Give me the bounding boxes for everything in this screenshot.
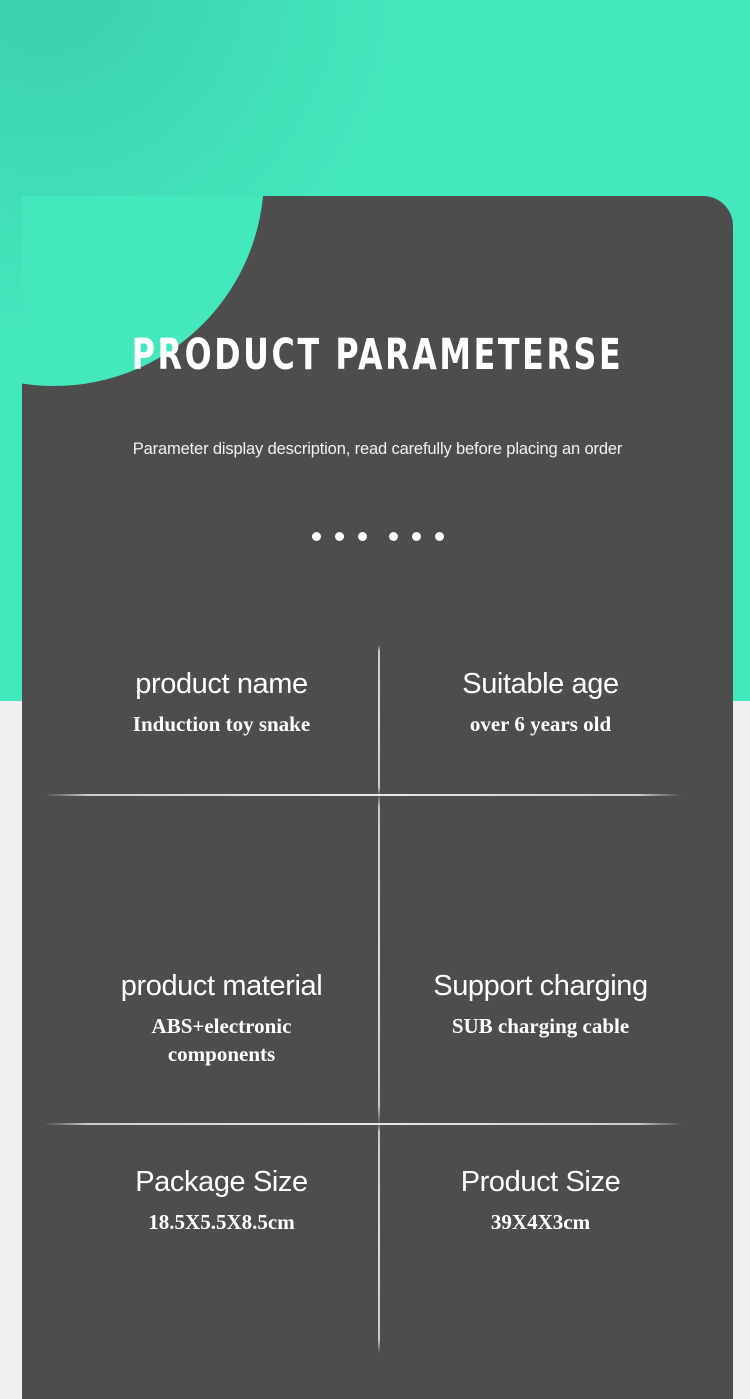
parameter-value: 18.5X5.5X8.5cm [148, 1208, 294, 1236]
parameter-cell: product material ABS+electronic componen… [62, 969, 381, 1121]
parameter-label: Suitable age [462, 667, 618, 701]
parameter-cell: Package Size 18.5X5.5X8.5cm [62, 1165, 381, 1353]
parameters-row: product name Induction toy snake Suitabl… [62, 645, 700, 793]
parameter-label: product material [121, 969, 323, 1003]
dot-icon [312, 532, 321, 541]
parameters-card: PRODUCT PARAMETERSE Parameter display de… [22, 196, 733, 1399]
parameter-value: over 6 years old [470, 710, 611, 738]
parameters-grid: product name Induction toy snake Suitabl… [62, 645, 700, 1353]
dots-separator [22, 532, 733, 541]
parameter-label: Product Size [461, 1165, 621, 1199]
parameter-cell: Support charging SUB charging cable [381, 969, 700, 1121]
parameter-cell: product name Induction toy snake [62, 667, 381, 793]
parameter-value: SUB charging cable [452, 1012, 629, 1040]
parameter-label: product name [135, 667, 308, 701]
product-parameters-page: PRODUCT PARAMETERSE Parameter display de… [0, 0, 750, 1399]
parameter-value: 39X4X3cm [491, 1208, 590, 1236]
parameters-row: product material ABS+electronic componen… [62, 793, 700, 1121]
dot-icon [435, 532, 444, 541]
parameter-cell: Product Size 39X4X3cm [381, 1165, 700, 1353]
parameter-value: ABS+electronic components [112, 1012, 332, 1068]
parameter-cell: Suitable age over 6 years old [381, 667, 700, 793]
dot-icon [358, 532, 367, 541]
parameters-row: Package Size 18.5X5.5X8.5cm Product Size… [62, 1121, 700, 1353]
dot-icon [389, 532, 398, 541]
dot-group-left [312, 532, 367, 541]
dot-group-right [389, 532, 444, 541]
parameters-card-inner: PRODUCT PARAMETERSE Parameter display de… [22, 196, 733, 1399]
parameter-label: Support charging [433, 969, 647, 1003]
dot-icon [335, 532, 344, 541]
dot-icon [412, 532, 421, 541]
parameter-label: Package Size [135, 1165, 308, 1199]
parameter-value: Induction toy snake [133, 710, 310, 738]
page-subtitle: Parameter display description, read care… [22, 439, 733, 459]
page-title: PRODUCT PARAMETERSE [86, 332, 669, 378]
